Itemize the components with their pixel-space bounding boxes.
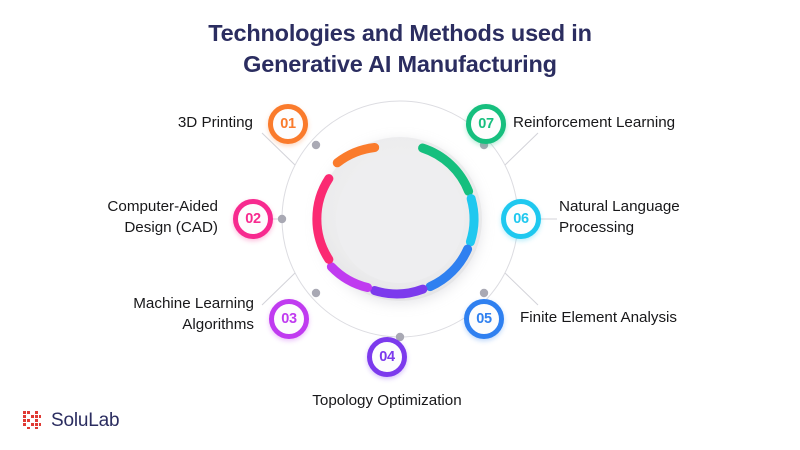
badge-01[interactable]: 01: [268, 104, 308, 144]
brand-name: SoluLab: [51, 410, 119, 432]
badge-05-number: 05: [476, 311, 492, 327]
badge-02[interactable]: 02: [233, 199, 273, 239]
badge-04-number: 04: [379, 349, 395, 365]
badge-07-number: 07: [478, 116, 494, 132]
radial-diagram: 01 02 03 04 05 06 07 3D Printing Compute…: [0, 0, 800, 450]
badge-01-number: 01: [280, 116, 296, 132]
badge-03[interactable]: 03: [269, 299, 309, 339]
donut-inner-disc: [336, 155, 464, 283]
badge-03-number: 03: [281, 311, 297, 327]
label-reinforcement-learning: Reinforcement Learning: [513, 113, 783, 134]
solulab-mark-icon: [22, 410, 44, 432]
badge-06[interactable]: 06: [501, 199, 541, 239]
donut-segment-06: [470, 199, 474, 242]
badge-02-number: 02: [245, 211, 261, 227]
badge-04[interactable]: 04: [367, 337, 407, 377]
label-topology-optimization: Topology Optimization: [267, 391, 507, 412]
badge-05[interactable]: 05: [464, 299, 504, 339]
badge-06-number: 06: [513, 211, 529, 227]
label-finite-element-analysis: Finite Element Analysis: [520, 308, 780, 329]
badge-07[interactable]: 07: [466, 104, 506, 144]
donut-segment-04: [375, 289, 423, 294]
label-computer-aided-design: Computer-Aided Design (CAD): [10, 197, 218, 238]
label-3d-printing: 3D Printing: [10, 113, 253, 134]
label-machine-learning-algorithms: Machine Learning Algorithms: [10, 294, 254, 335]
brand-logo[interactable]: SoluLab: [22, 410, 119, 432]
label-natural-language-processing: Natural Language Processing: [559, 197, 794, 238]
infographic-canvas: Technologies and Methods used in Generat…: [0, 0, 800, 450]
